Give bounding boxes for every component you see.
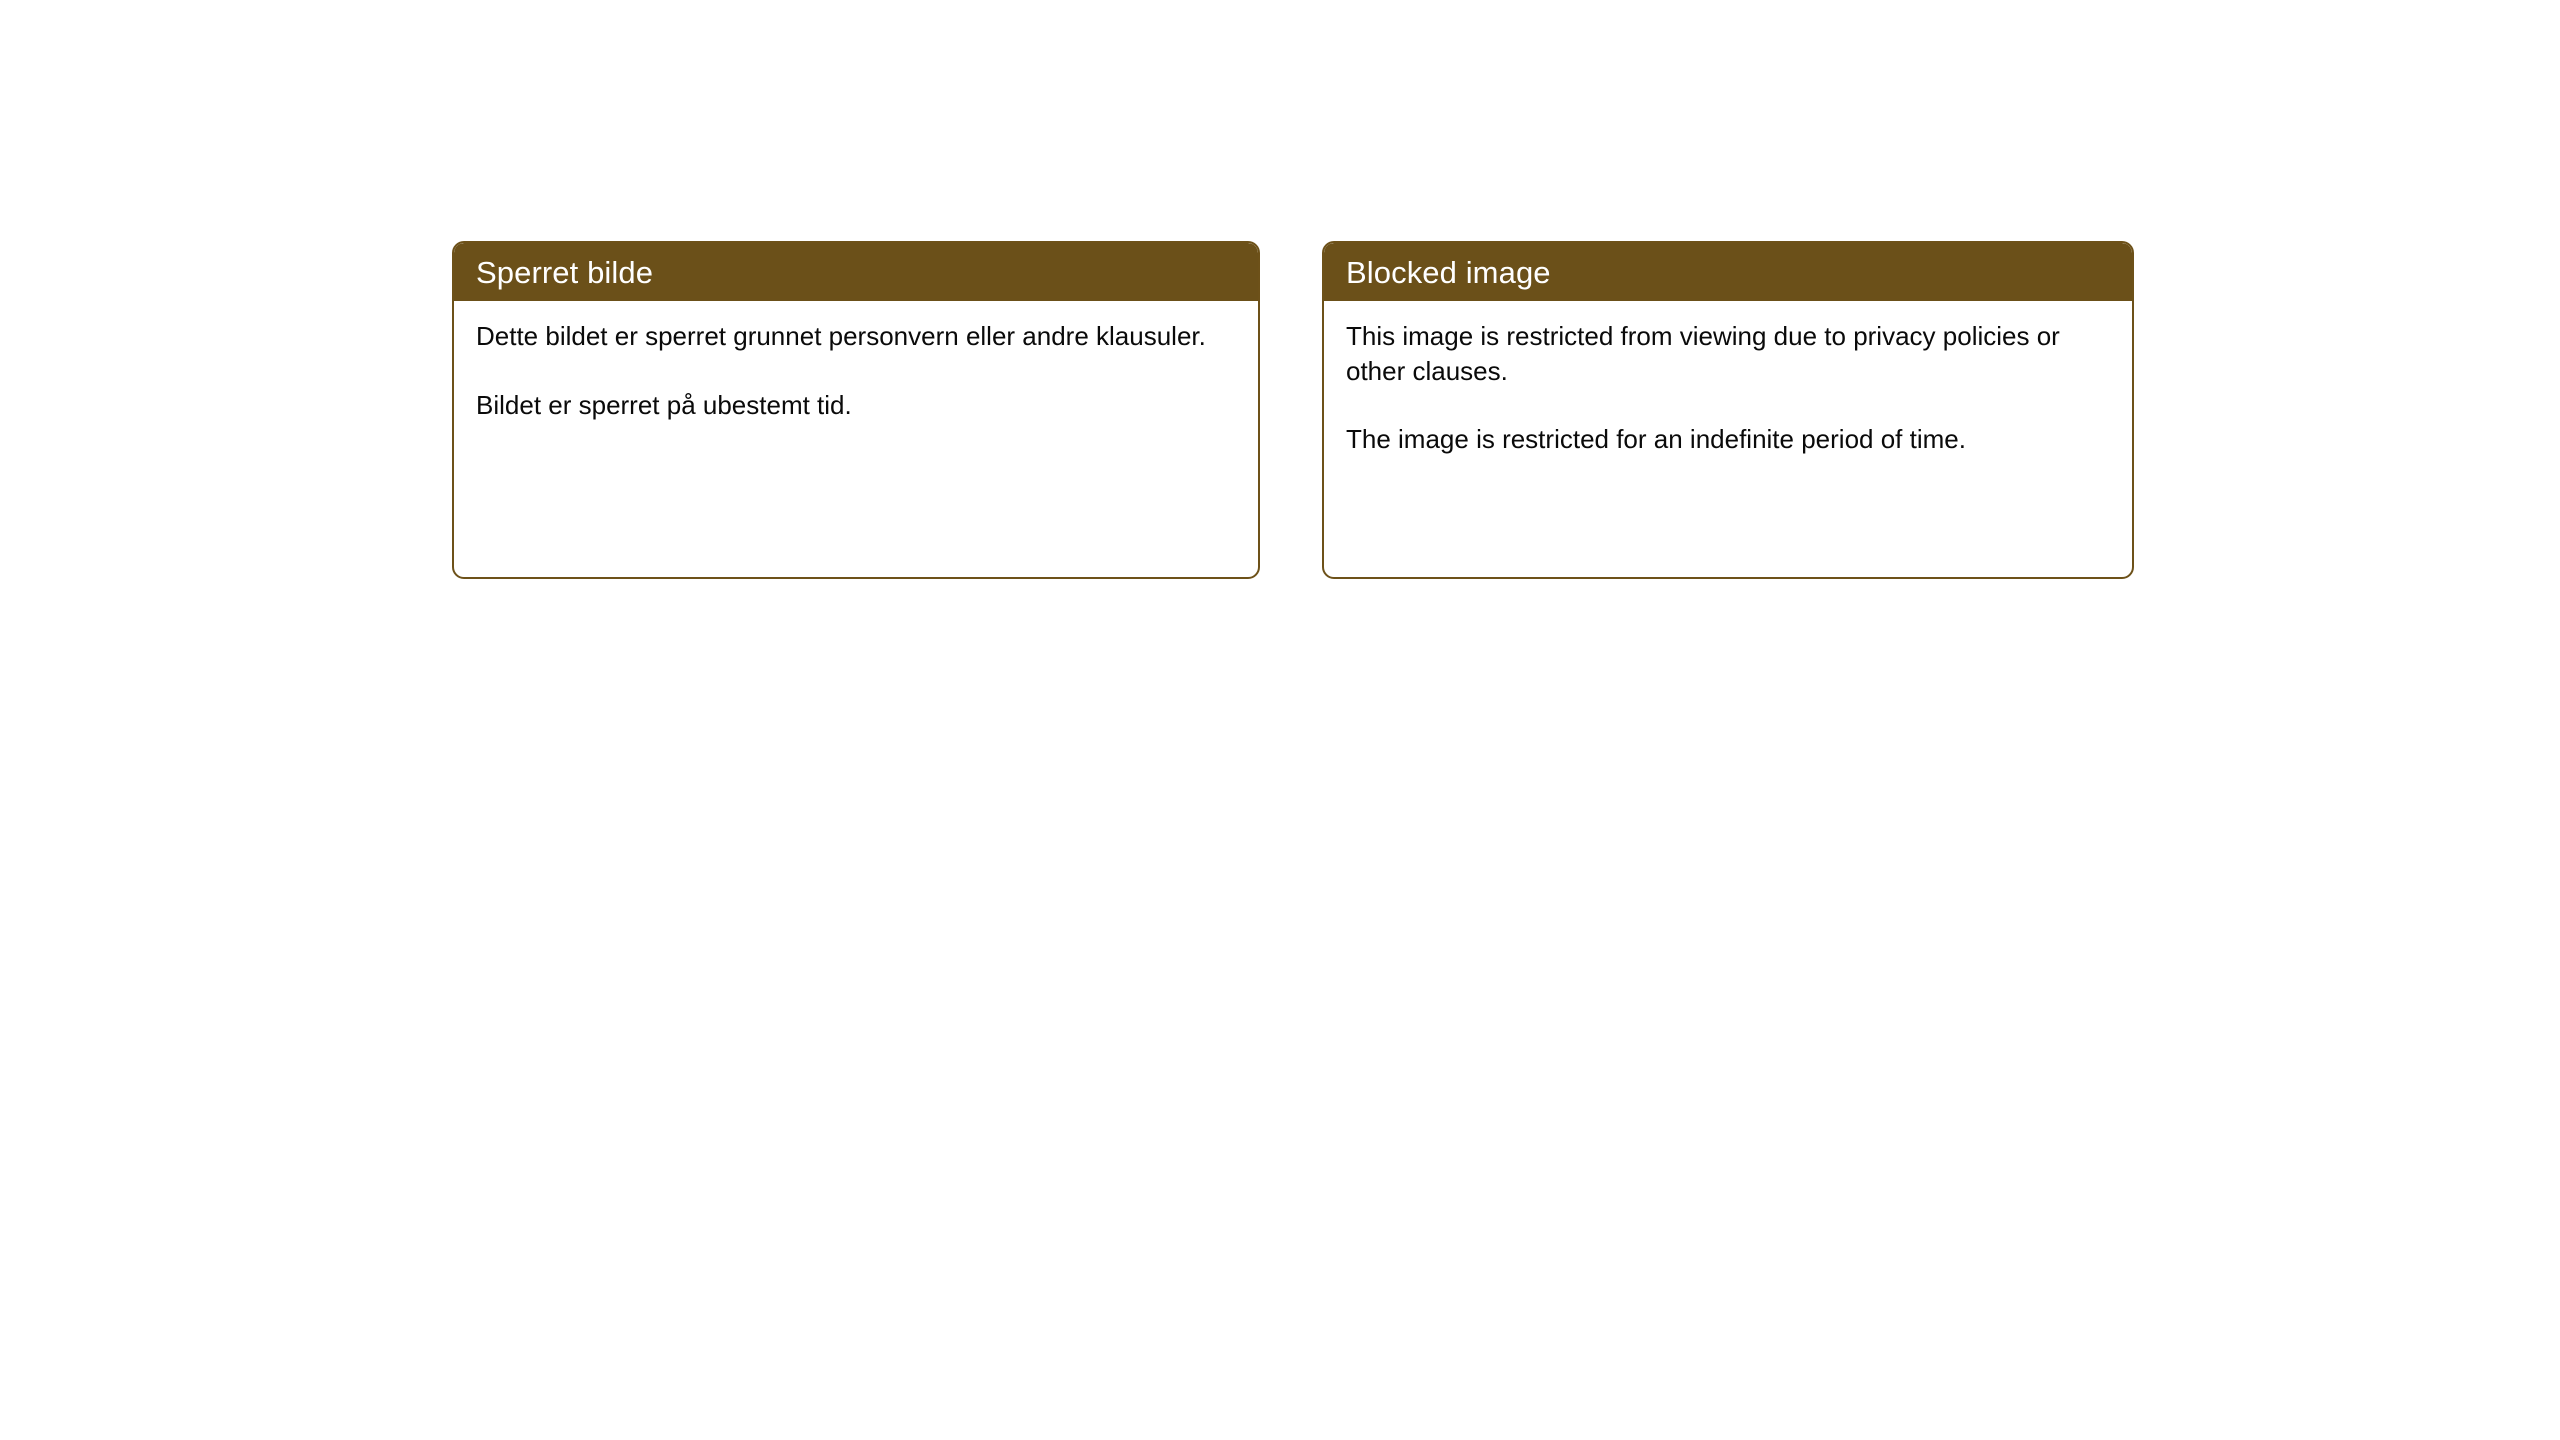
card-title-norwegian: Sperret bilde — [476, 257, 653, 288]
card-paragraph-reason-english: This image is restricted from viewing du… — [1346, 319, 2108, 388]
notice-cards-row: Sperret bilde Dette bildet er sperret gr… — [452, 241, 2134, 579]
card-paragraph-reason-norwegian: Dette bildet er sperret grunnet personve… — [476, 319, 1234, 354]
card-title-english: Blocked image — [1346, 257, 1551, 288]
card-header-english: Blocked image — [1324, 243, 2132, 301]
card-body-english: This image is restricted from viewing du… — [1324, 301, 2132, 577]
blocked-image-notice-card-norwegian: Sperret bilde Dette bildet er sperret gr… — [452, 241, 1260, 579]
card-paragraph-duration-english: The image is restricted for an indefinit… — [1346, 422, 2108, 457]
page-root: Sperret bilde Dette bildet er sperret gr… — [0, 0, 2560, 1440]
blocked-image-notice-card-english: Blocked image This image is restricted f… — [1322, 241, 2134, 579]
card-paragraph-duration-norwegian: Bildet er sperret på ubestemt tid. — [476, 388, 1234, 423]
card-header-norwegian: Sperret bilde — [454, 243, 1258, 301]
card-body-norwegian: Dette bildet er sperret grunnet personve… — [454, 301, 1258, 577]
